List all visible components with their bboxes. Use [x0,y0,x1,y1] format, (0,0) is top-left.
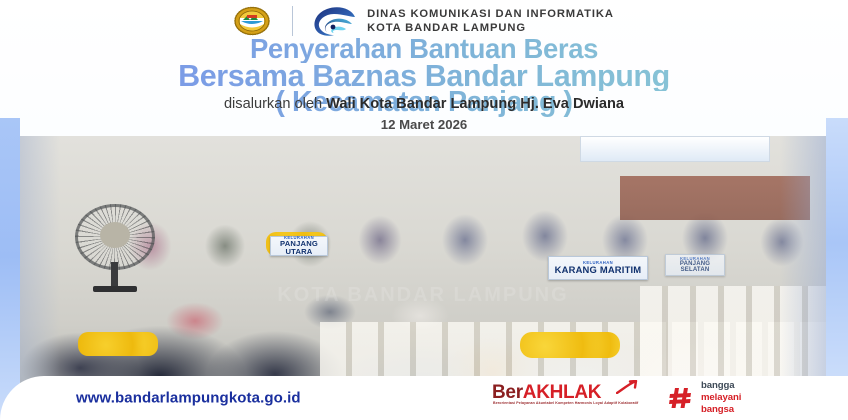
bangga-melayani-bangsa-logo: bangga melayani bangsa [668,382,798,414]
bmb-line-2: melayani [701,392,741,404]
photo-right-shade [780,136,826,388]
subtitle-official-name: Wali Kota Bandar Lampung Hj. Eva Dwiana [326,96,624,112]
kelurahan-sign-karang-maritim: KELURAHAN KARANG MARITIM [548,256,648,280]
background-left-blue-band [0,118,20,396]
standing-fan-icon [75,204,155,284]
poster-subtitle: disalurkan oleh Wali Kota Bandar Lampung… [0,96,848,112]
website-url[interactable]: www.bandarlampungkota.go.id [76,390,301,407]
bangga-melayani-bangsa-text: bangga melayani bangsa [701,380,741,415]
org-line-1: DINAS KOMUNIKASI DAN INFORMATIKA [367,7,614,21]
berakhlak-word-prefix: Ber [492,382,523,403]
bmb-line-1: bangga [701,380,741,392]
berakhlak-logo: BerAKHLAK Berorientasi Pelayanan Akuntab… [492,381,652,415]
sign-kelurahan-name: KARANG MARITIM [549,265,647,275]
kelurahan-sign-panjang-utara: KELURAHAN PANJANG UTARA [270,236,328,256]
yellow-flowers-foreground [78,332,158,356]
organization-name: DINAS KOMUNIKASI DAN INFORMATIKA KOTA BA… [367,7,614,36]
fan-hub [100,222,130,248]
sign-kelurahan-name: PANJANG SELATAN [666,261,724,274]
poster-header: DINAS KOMUNIKASI DAN INFORMATIKA KOTA BA… [0,0,848,140]
poster-footer: www.bandarlampungkota.go.id BerAKHLAK Be… [0,376,848,420]
poster-canvas: DINAS KOMUNIKASI DAN INFORMATIKA KOTA BA… [0,0,848,420]
logo-divider [292,6,293,36]
sign-kelurahan-name: PANJANG UTARA [271,240,327,256]
berakhlak-swoosh-icon [616,380,638,394]
berakhlak-tagline: Berorientasi Pelayanan Akuntabel Kompete… [493,401,645,407]
bmb-line-3: bangsa [701,404,741,416]
poster-date: 12 Maret 2026 [0,117,848,132]
subtitle-prefix: disalurkan oleh [224,96,326,112]
kelurahan-sign-panjang-selatan: KELURAHAN PANJANG SELATAN [665,254,725,276]
bangga-melayani-bangsa-mark-icon [668,385,694,411]
fan-base [93,286,137,292]
yellow-flowers-center [520,332,620,358]
berakhlak-word-suffix: AKHLAK [523,382,601,403]
fan-pole [111,262,118,288]
background-right-blue-band [826,118,848,396]
event-photo: KOTA BANDAR LAMPUNG KELURAHAN PANJANG UT… [20,136,826,388]
photo-left-shade [20,136,60,388]
